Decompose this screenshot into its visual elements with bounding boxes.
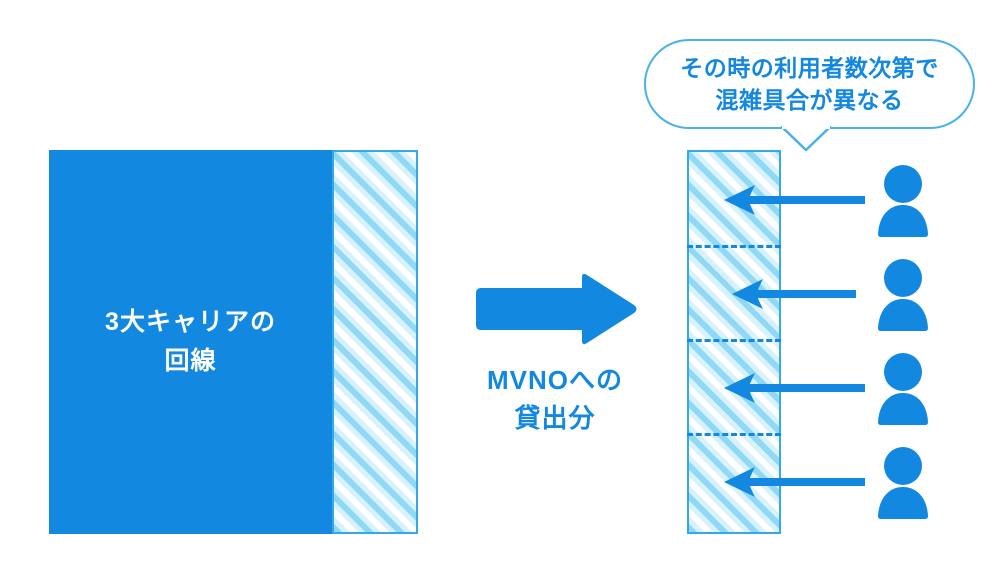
thick-right-arrow-icon	[470, 272, 638, 346]
speech-bubble-line-1: その時の利用者数次第で	[680, 55, 939, 81]
column-divider-1	[687, 245, 781, 248]
user-arrow-1	[722, 183, 867, 217]
carrier-striped-area	[332, 150, 418, 534]
person-icon-1	[875, 164, 931, 238]
carrier-label-line-1: 3大キャリアの	[105, 309, 276, 337]
carrier-line-block: 3大キャリアの 回線	[49, 150, 418, 534]
speech-bubble: その時の利用者数次第で 混雑具合が異なる	[644, 39, 975, 129]
carrier-label-line-2: 回線	[164, 348, 216, 376]
user-arrow-3	[722, 371, 867, 405]
person-icon-2	[875, 258, 931, 332]
person-icon-3	[875, 352, 931, 426]
mvno-arrow-label: MVNOへの 貸出分	[455, 362, 655, 437]
user-arrow-2	[730, 277, 858, 311]
mvno-label-line-2: 貸出分	[455, 400, 655, 438]
speech-bubble-line-2: 混雑具合が異なる	[716, 87, 904, 113]
column-divider-3	[687, 433, 781, 436]
carrier-block-label: 3大キャリアの 回線	[49, 150, 332, 534]
speech-tail-icon	[780, 126, 832, 152]
user-arrow-4	[722, 465, 867, 499]
column-divider-2	[687, 339, 781, 342]
mvno-label-line-1: MVNOへの	[455, 362, 655, 400]
diagram-canvas: 3大キャリアの 回線 MVNOへの 貸出分	[0, 0, 1000, 577]
person-icon-4	[875, 446, 931, 520]
